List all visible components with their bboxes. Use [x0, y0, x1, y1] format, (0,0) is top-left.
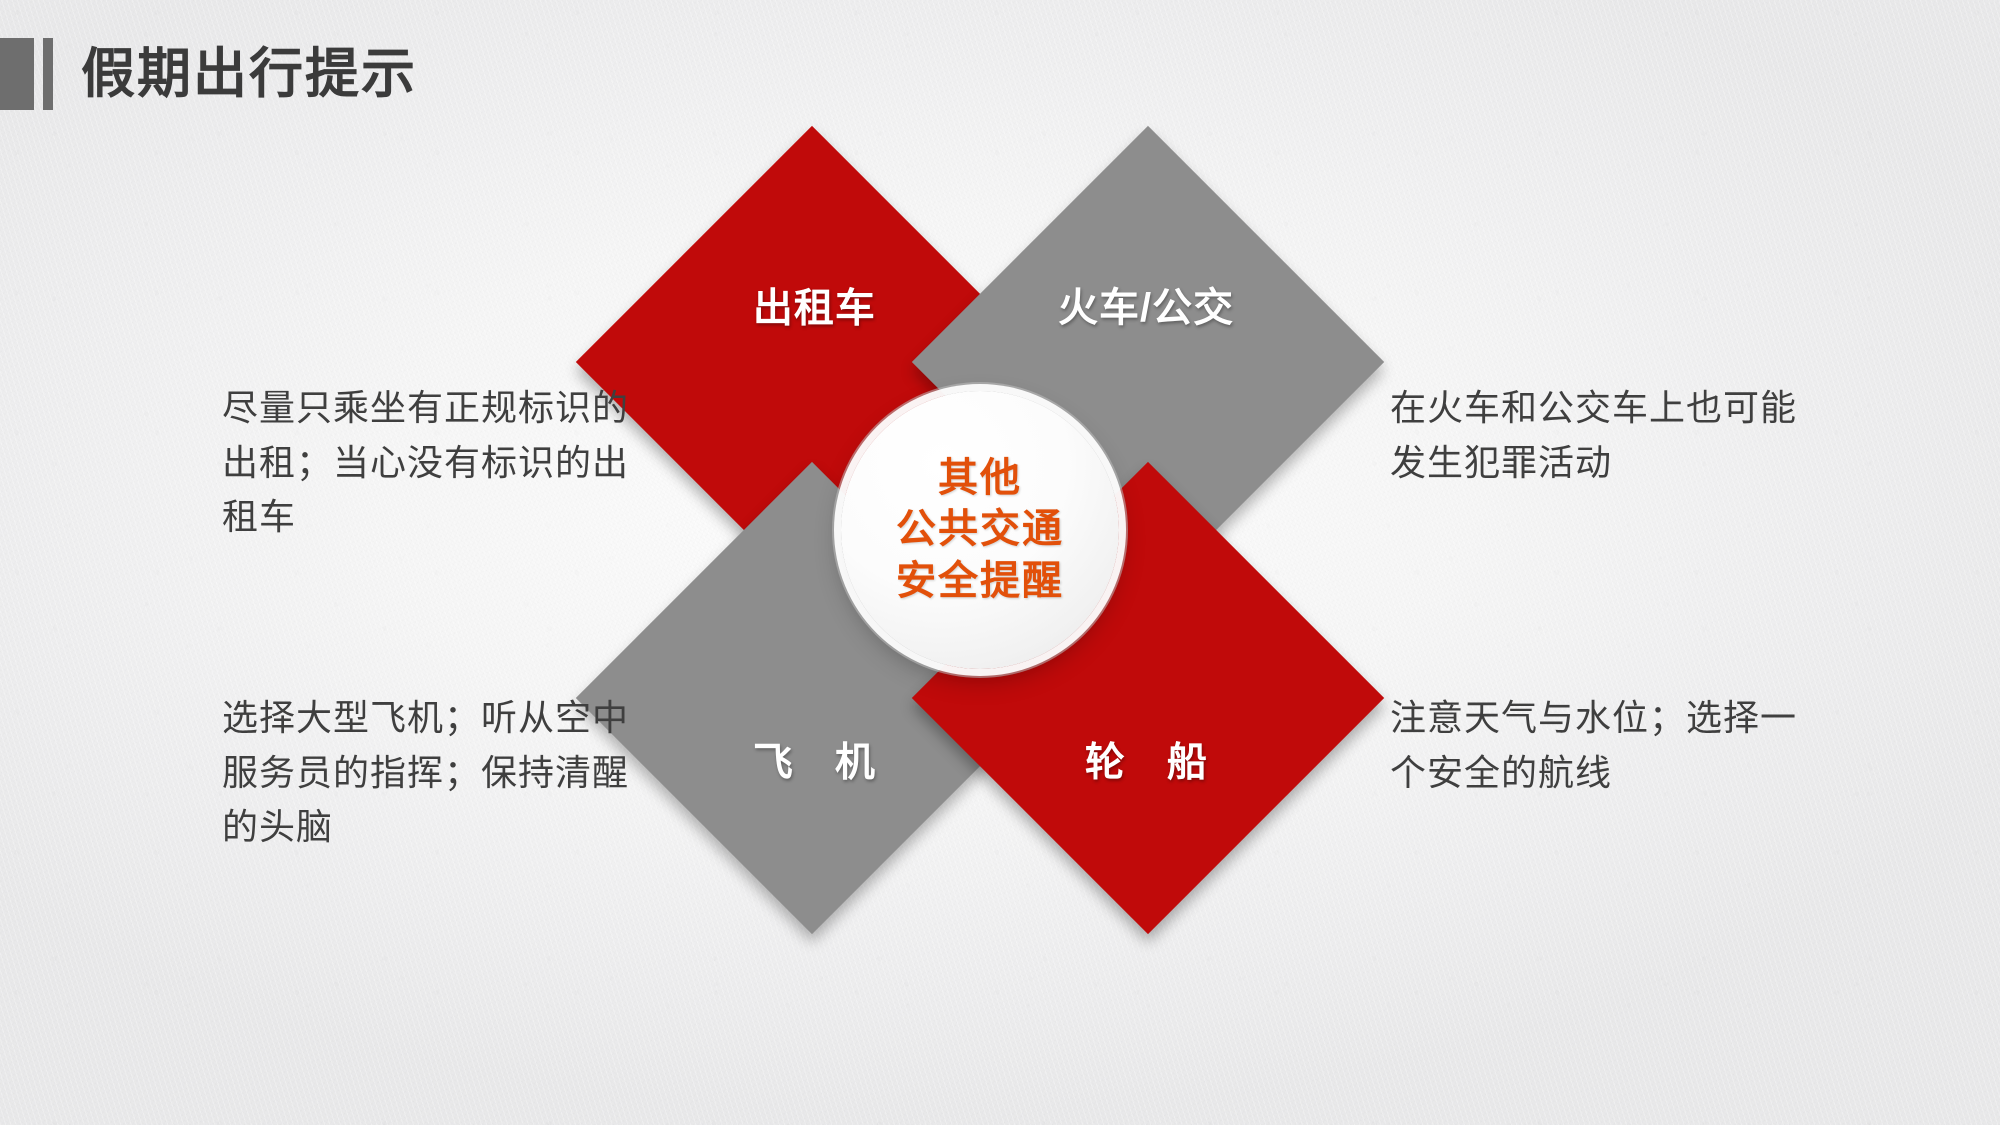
diamond-train-bus-label: 火车/公交: [1058, 275, 1234, 333]
note-airplane: 选择大型飞机；听从空中服务员的指挥；保持清醒的头脑: [222, 691, 642, 855]
diamond-airplane-label: 飞 机: [753, 729, 876, 787]
diamond-ship-label: 轮 船: [1085, 729, 1208, 787]
title-marker-wide-bar: [0, 38, 34, 110]
page-title: 假期出行提示: [81, 47, 417, 101]
note-train-bus: 在火车和公交车上也可能发生犯罪活动: [1390, 381, 1830, 490]
center-hub-circle[interactable]: 其他 公共交通 安全提醒: [841, 391, 1119, 669]
hub-line-1: 其他: [938, 453, 1022, 504]
note-taxi: 尽量只乘坐有正规标识的出租；当心没有标识的出租车: [222, 381, 642, 545]
title-marker-thin-bar: [43, 38, 53, 110]
title-marker-gap: [34, 38, 43, 110]
note-ship: 注意天气与水位；选择一个安全的航线: [1390, 691, 1830, 800]
hub-line-3: 安全提醒: [896, 556, 1064, 607]
slide-canvas: 假期出行提示 尽量只乘坐有正规标识的出租；当心没有标识的出租车 选择大型飞机；听…: [0, 0, 2000, 1125]
slide-header: 假期出行提示: [0, 34, 417, 114]
transport-pinwheel-diagram: 出租车 火车/公交 飞 机 轮 船 其他 公共交通 安全提醒: [645, 195, 1315, 865]
hub-line-2: 公共交通: [896, 504, 1064, 555]
diamond-taxi-label: 出租车: [753, 275, 876, 333]
